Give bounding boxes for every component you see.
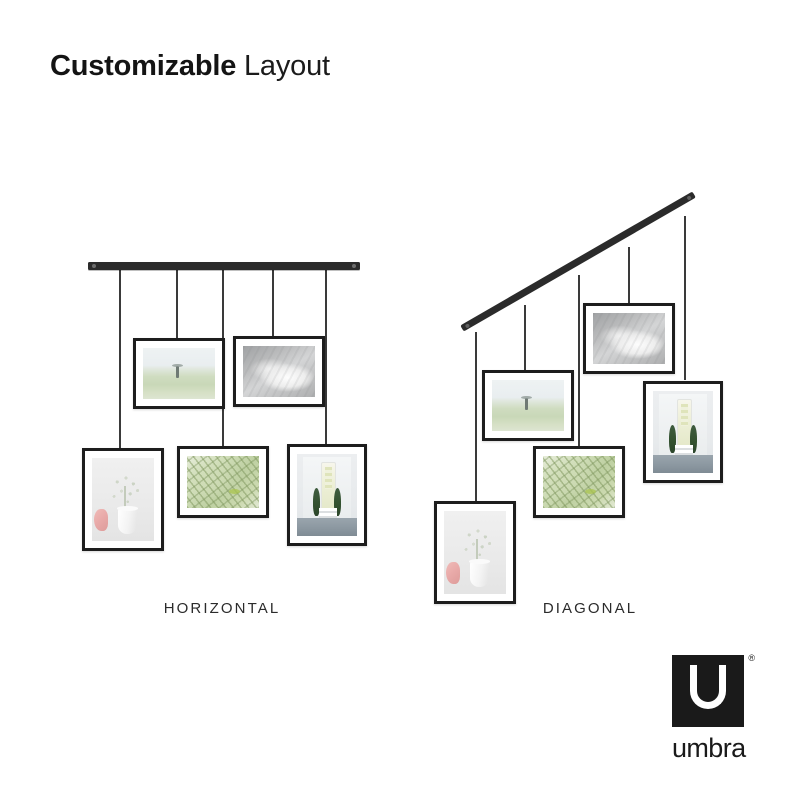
photo-cloud-photo (593, 313, 665, 364)
frame-mat (653, 391, 713, 473)
frame-mat (492, 380, 564, 431)
hanging-wire (475, 332, 477, 506)
picture-frame-palm-photo (533, 446, 625, 518)
photo-field-photo (492, 380, 564, 431)
frame-mat (543, 456, 615, 508)
picture-frame-door-photo (643, 381, 723, 483)
picture-frame-vase-photo (434, 501, 516, 604)
umbra-u-mark: ® (672, 655, 744, 727)
caption-diagonal: DIAGONAL (543, 600, 637, 617)
vase-shape (470, 561, 489, 588)
registered-trademark-icon: ® (748, 653, 755, 663)
rail-end-cap-icon (686, 195, 691, 200)
ground-shape (653, 455, 713, 473)
photo-palm-photo (543, 456, 615, 508)
umbra-wordmark: umbra (672, 733, 744, 764)
frame-mat (444, 511, 506, 594)
frame-mat (593, 313, 665, 364)
picture-frame-cloud-photo (583, 303, 675, 374)
infographic-page: Customizable Layout HORIZONTALDIAGONAL ®… (0, 0, 800, 800)
pink-accent (446, 562, 460, 584)
hanging-wire (684, 216, 686, 380)
hanging-wire (628, 247, 630, 310)
umbra-logo: ® umbra (672, 655, 744, 764)
photo-door-photo (653, 391, 713, 473)
flower-stems (463, 529, 494, 562)
picture-frame-field-photo (482, 370, 574, 441)
u-glyph-icon (690, 665, 726, 709)
photo-vase-photo (444, 511, 506, 594)
rail-end-cap-icon (465, 323, 470, 328)
